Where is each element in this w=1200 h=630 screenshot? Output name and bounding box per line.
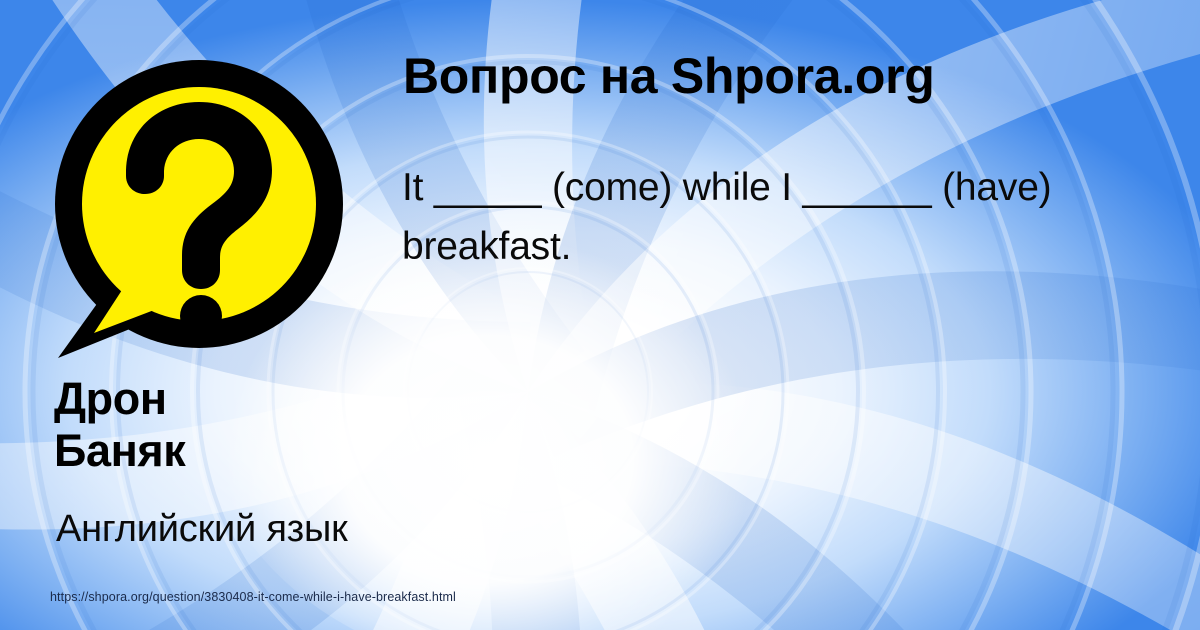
author-name: Дрон Баняк [54, 373, 384, 477]
page-title: Вопрос на Shpora.org [403, 47, 935, 106]
subject-label: Английский язык [56, 508, 348, 551]
question-text: It _____ (come) while I ______ (have) br… [402, 158, 1142, 277]
shpora-question-card: Вопрос на Shpora.org It _____ (come) whi… [0, 0, 1200, 630]
author-first-name: Дрон [54, 373, 384, 425]
author-last-name: Баняк [54, 425, 384, 477]
source-url[interactable]: https://shpora.org/question/3830408-it-c… [50, 590, 456, 604]
question-speech-bubble-icon [44, 58, 354, 358]
